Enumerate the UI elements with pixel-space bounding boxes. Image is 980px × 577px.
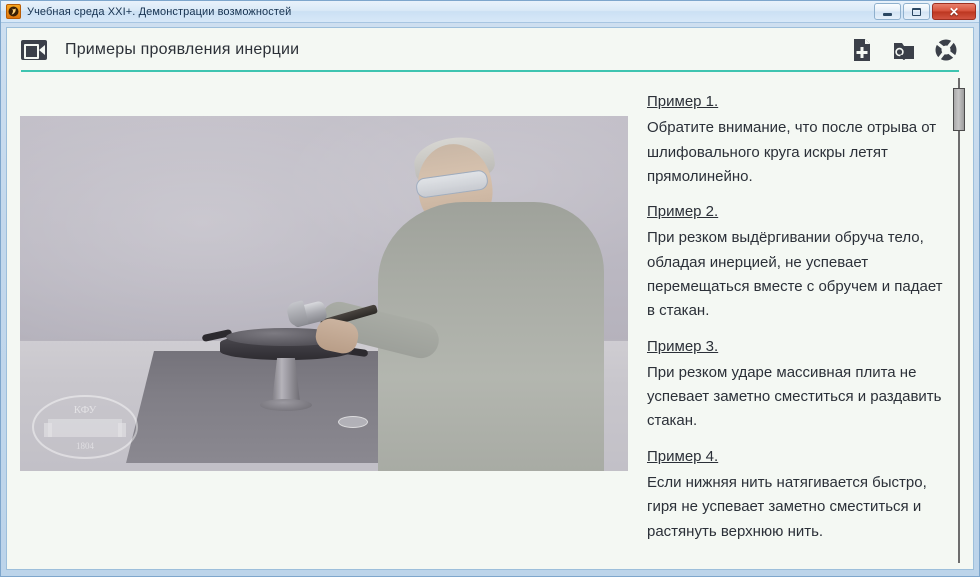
- video-player[interactable]: КФУ 1804: [20, 116, 628, 471]
- settings-button[interactable]: [933, 37, 959, 63]
- example-block: Пример 1. Обратите внимание, что после о…: [647, 90, 943, 189]
- video-camera-icon: [21, 40, 47, 60]
- example-body: Если нижняя нить натягивается быстро, ги…: [647, 471, 943, 544]
- header-actions: [849, 37, 959, 63]
- example-block: Пример 3. При резком ударе массивная пли…: [647, 335, 943, 434]
- minimize-button[interactable]: [874, 3, 901, 20]
- description-scrollbar[interactable]: [953, 78, 965, 563]
- content-body: КФУ 1804 Пример 1. Обратите внимание, чт…: [7, 72, 973, 563]
- donut-segments-icon: [933, 37, 959, 63]
- example-body: Обратите внимание, что после отрыва от ш…: [647, 116, 943, 189]
- application-window: Учебная среда XXI+. Демонстрации возможн…: [0, 0, 980, 577]
- example-body: При резком ударе массивная плита не успе…: [647, 361, 943, 434]
- document-plus-icon: [849, 37, 875, 63]
- client-area: Примеры проявления инерции: [6, 27, 974, 570]
- glass-cup: [338, 416, 368, 428]
- example-body: При резком выдёргивании обруча тело, обл…: [647, 226, 943, 323]
- example-block: Пример 2. При резком выдёргивании обруча…: [647, 200, 943, 323]
- plate-base: [260, 399, 312, 411]
- watermark-year: 1804: [76, 441, 95, 451]
- close-icon: ✕: [949, 6, 959, 18]
- example-title: Пример 3.: [647, 335, 943, 358]
- watermark-initials: КФУ: [74, 404, 97, 416]
- university-watermark: КФУ 1804: [30, 393, 140, 461]
- browse-folder-button[interactable]: [891, 37, 917, 63]
- scrollbar-track[interactable]: [958, 78, 960, 563]
- minimize-icon: [883, 13, 892, 16]
- page-title: Примеры проявления инерции: [65, 41, 299, 59]
- player-controls: [7, 563, 973, 570]
- video-pane: КФУ 1804: [7, 72, 635, 563]
- close-button[interactable]: ✕: [932, 3, 976, 20]
- example-block: Пример 4. Если нижняя нить натягивается …: [647, 445, 943, 544]
- window-title: Учебная среда XXI+. Демонстрации возможн…: [27, 6, 291, 18]
- window-controls: ✕: [874, 3, 976, 20]
- maximize-icon: [912, 8, 921, 16]
- maximize-button[interactable]: [903, 3, 930, 20]
- app-logo-icon: [6, 4, 21, 19]
- new-document-button[interactable]: [849, 37, 875, 63]
- example-title: Пример 1.: [647, 90, 943, 113]
- example-title: Пример 2.: [647, 200, 943, 223]
- example-title: Пример 4.: [647, 445, 943, 468]
- scrollbar-thumb[interactable]: [953, 88, 965, 132]
- description-panel: Пример 1. Обратите внимание, что после о…: [635, 72, 973, 563]
- folder-search-icon: [891, 37, 917, 63]
- title-bar: Учебная среда XXI+. Демонстрации возможн…: [1, 1, 979, 23]
- content-header: Примеры проявления инерции: [7, 28, 973, 72]
